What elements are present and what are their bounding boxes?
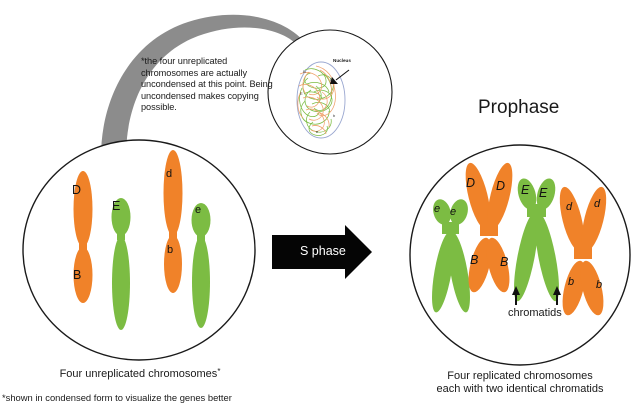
left-cell-footnote: *shown in condensed form to visualize th…	[2, 392, 232, 403]
replicated-gene-label-E-1: E	[521, 183, 529, 197]
gene-label-b: b	[167, 244, 173, 256]
nucleus-inset	[268, 30, 392, 154]
diagram-canvas: *the four unreplicated chromosomes are a…	[0, 0, 640, 416]
nucleus-label: Nucleus	[333, 58, 351, 63]
replicated-gene-label-d-1: d	[566, 201, 572, 213]
prophase-title: Prophase	[478, 97, 559, 119]
inset-gene-label-E: E	[300, 91, 303, 96]
uncondensed-annotation: *the four unreplicated chromosomes are a…	[141, 56, 281, 114]
replicated-gene-label-d-2: d	[594, 198, 600, 210]
right-cell-caption-line2: each with two identical chromatids	[400, 383, 640, 396]
inset-gene-label-e: e	[316, 129, 318, 134]
replicated-gene-label-B-1: B	[470, 253, 478, 267]
left-cell-membrane	[23, 140, 255, 360]
s-phase-label: S phase	[300, 244, 346, 258]
replicated-gene-label-E-2: E	[539, 186, 547, 200]
replicated-gene-label-b-1: b	[568, 276, 574, 288]
replicated-gene-label-e-1: e	[434, 203, 440, 215]
chromosome-e	[192, 203, 211, 328]
diagram-vector-layer	[0, 0, 640, 416]
replicated-gene-label-D-2: D	[496, 179, 505, 193]
replicated-gene-label-D-1: D	[466, 176, 475, 190]
left-cell-caption: Four unreplicated chromosomes*	[24, 367, 256, 380]
left-cell-caption-asterisk: *	[217, 367, 220, 376]
gene-label-E: E	[112, 199, 120, 213]
gene-label-B: B	[73, 268, 81, 282]
right-cell-caption-line1: Four replicated chromosomes	[400, 370, 640, 383]
replicated-gene-label-b-2: b	[596, 279, 602, 291]
gene-label-D: D	[72, 183, 81, 197]
right-cell-caption: Four replicated chromosomes each with tw…	[400, 370, 640, 396]
replicated-gene-label-e-2: e	[450, 206, 456, 218]
inset-gene-label-b: b	[333, 113, 335, 118]
inset-gene-label-B: B	[303, 69, 306, 74]
chromosome-E	[112, 198, 131, 330]
replicated-gene-label-B-2: B	[500, 255, 508, 269]
left-cell-caption-text: Four unreplicated chromosomes	[60, 368, 218, 380]
chromatids-label: chromatids	[508, 307, 562, 319]
inset-gene-label-D: D	[330, 77, 333, 82]
gene-label-d: d	[166, 168, 172, 180]
gene-label-e: e	[195, 204, 201, 216]
